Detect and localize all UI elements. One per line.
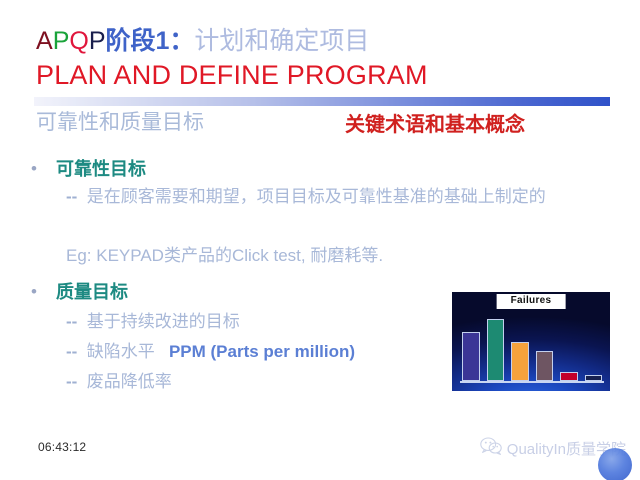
dash-marker-3: -- xyxy=(66,342,77,361)
dash-marker: -- xyxy=(66,187,77,206)
bullet-marker-2: • xyxy=(31,283,37,300)
chart-bar xyxy=(511,342,529,382)
reliability-detail-1: -- 是在顾客需要和期望，项目目标及可靠性基准的基础上制定的 xyxy=(66,186,611,209)
slide-canvas: APQP阶段1：计划和确定项目 PLAN AND DEFINE PROGRAM … xyxy=(0,0,640,480)
section-heading-quality: 质量目标 xyxy=(56,278,128,304)
timestamp: 06:43:12 xyxy=(38,440,86,454)
chart-title: Failures xyxy=(497,294,566,309)
chart-bars-group xyxy=(462,302,602,381)
dash-marker-4: -- xyxy=(66,372,77,391)
bullet-marker: • xyxy=(31,160,37,177)
quality-detail-2: -- 缺陷水平 PPM (Parts per million) xyxy=(66,337,355,362)
ppm-emphasis: PPM (Parts per million) xyxy=(169,342,355,361)
reliability-example: Eg: KEYPAD类产品的Click test, 耐磨耗等. xyxy=(66,241,383,266)
quality-detail-1-text: 基于持续改进的目标 xyxy=(87,312,240,331)
chart-bar xyxy=(462,332,480,381)
chart-bar xyxy=(536,351,554,381)
quality-detail-1: -- 基于持续改进的目标 xyxy=(66,307,240,332)
blue-circle-badge xyxy=(598,448,632,480)
section-heading-reliability: 可靠性目标 xyxy=(56,155,146,181)
reliability-detail-1-text: 是在顾客需要和期望，项目目标及可靠性基准的基础上制定的 xyxy=(87,187,546,206)
chart-x-axis xyxy=(460,381,604,383)
slide-body: • 可靠性目标 -- 是在顾客需要和期望，项目目标及可靠性基准的基础上制定的 E… xyxy=(0,0,640,480)
chart-bar xyxy=(560,372,578,381)
chart-bar xyxy=(487,319,505,381)
chart-plot-area xyxy=(460,302,604,383)
quality-detail-3-text: 废品降低率 xyxy=(87,372,172,391)
quality-detail-3: -- 废品降低率 xyxy=(66,367,172,392)
quality-detail-2-text: 缺陷水平 xyxy=(87,342,155,361)
dash-marker-2: -- xyxy=(66,312,77,331)
failures-bar-chart: Failures xyxy=(452,292,610,391)
wechat-icon xyxy=(480,437,502,459)
